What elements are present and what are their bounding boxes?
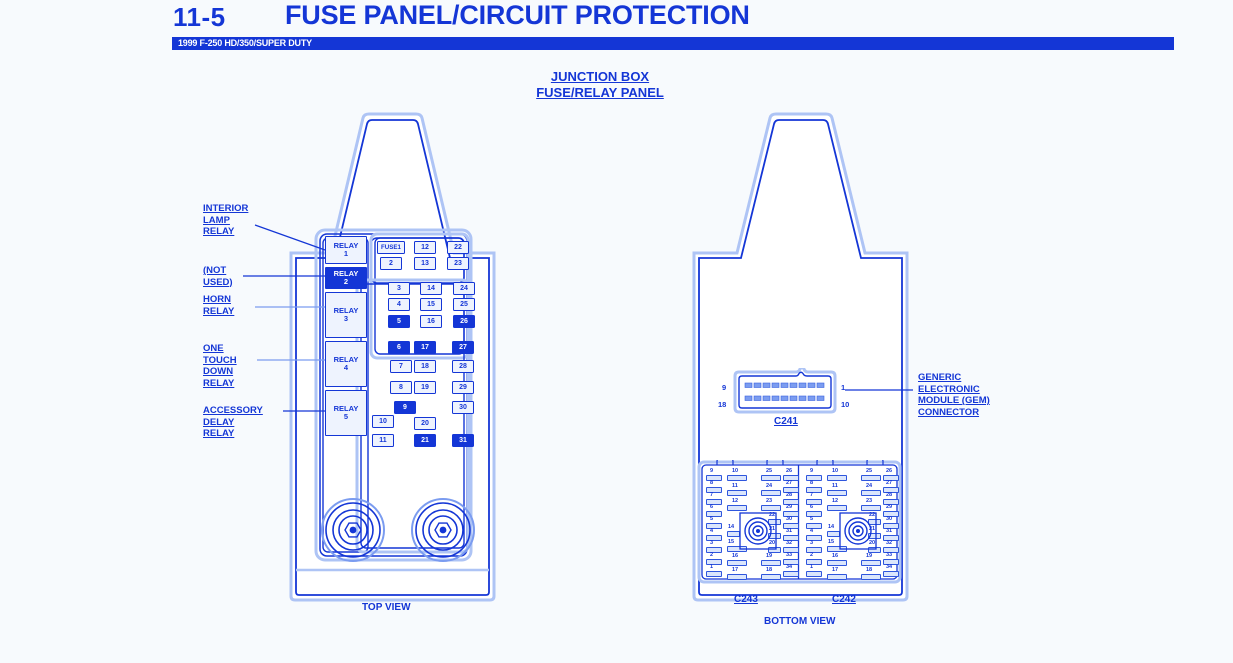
fuse-17[interactable]: 17 xyxy=(414,341,436,354)
c242-pin-7-label: 7 xyxy=(810,492,813,498)
subtitle-bar: 1999 F-250 HD/350/SUPER DUTY xyxy=(172,37,1174,50)
c243-pin-27-label: 27 xyxy=(786,480,792,486)
callout-leader-lines xyxy=(195,195,365,455)
c243-pin-5[interactable] xyxy=(706,523,722,529)
fuse-25[interactable]: 25 xyxy=(453,298,475,311)
c242-pin-4-label: 4 xyxy=(810,528,813,534)
c243-pin-23-label: 23 xyxy=(766,498,772,504)
c243-pin-19[interactable] xyxy=(761,560,781,566)
c242-pin-17[interactable] xyxy=(827,574,847,580)
c243-pin-4[interactable] xyxy=(706,535,722,541)
fuse-30[interactable]: 30 xyxy=(452,401,474,414)
c242-pin-5-label: 5 xyxy=(810,516,813,522)
c242-pin-23[interactable] xyxy=(861,505,881,511)
fuse-9[interactable]: 9 xyxy=(394,401,416,414)
c243-pin-3[interactable] xyxy=(706,547,722,553)
c241-connector[interactable] xyxy=(730,368,840,416)
fuse-12[interactable]: 12 xyxy=(414,241,436,254)
chapter-number: 11-5 xyxy=(173,2,226,33)
fuse-13[interactable]: 13 xyxy=(414,257,436,270)
circular-connector-right xyxy=(412,499,474,561)
fuse-16[interactable]: 16 xyxy=(420,315,442,328)
c243-pin-8-label: 8 xyxy=(710,480,713,486)
c242-pin-19-label: 19 xyxy=(866,553,872,559)
c242-pin-9-label: 9 xyxy=(810,468,813,474)
fuse-29[interactable]: 29 xyxy=(452,381,474,394)
c242-pin-11[interactable] xyxy=(827,490,847,496)
fuse-20[interactable]: 20 xyxy=(414,417,436,430)
circular-connector-pair xyxy=(318,495,488,565)
c242-pin-3-label: 3 xyxy=(810,540,813,546)
c241-pin-row-top xyxy=(745,383,824,388)
page-title: FUSE PANEL/CIRCUIT PROTECTION xyxy=(285,0,750,31)
c242-pin-34[interactable] xyxy=(883,571,899,577)
c242-center-boss xyxy=(839,512,877,550)
c243-pin-25[interactable] xyxy=(761,475,781,481)
c242-pin-4[interactable] xyxy=(806,535,822,541)
c242-pin-27-label: 27 xyxy=(886,480,892,486)
c243-pin-14-label: 14 xyxy=(728,524,734,530)
c242-pin-14-label: 14 xyxy=(828,524,834,530)
c242-pin-5[interactable] xyxy=(806,523,822,529)
bottom-view-caption: BOTTOM VIEW xyxy=(764,616,835,627)
c242-pin-25-label: 25 xyxy=(866,468,872,474)
c242-pin-8[interactable] xyxy=(806,487,822,493)
c242-pin-8-label: 8 xyxy=(810,480,813,486)
c242-pin-15-label: 15 xyxy=(828,539,834,545)
c242-pin-1-label: 1 xyxy=(810,564,813,570)
callout-gem-line4: CONNECTOR xyxy=(918,407,990,419)
callout-gem-line2: ELECTRONIC xyxy=(918,384,990,396)
fuse-8[interactable]: 8 xyxy=(390,381,412,394)
c243-pin-6[interactable] xyxy=(706,511,722,517)
fuse-15[interactable]: 15 xyxy=(420,298,442,311)
c243-pin-5-label: 5 xyxy=(710,516,713,522)
fuse-FUSE1[interactable]: FUSE1 xyxy=(377,241,405,254)
fuse-18[interactable]: 18 xyxy=(414,360,436,373)
c243-pin-24[interactable] xyxy=(761,490,781,496)
fuse-3[interactable]: 3 xyxy=(388,282,410,295)
c242-pin-12-label: 12 xyxy=(832,498,838,504)
c243-pin-17-label: 17 xyxy=(732,567,738,573)
c242-pin-12[interactable] xyxy=(827,505,847,511)
c243-pin-26-label: 26 xyxy=(786,468,792,474)
fuse-11[interactable]: 11 xyxy=(372,434,394,447)
c243-pin-31-label: 31 xyxy=(786,528,792,534)
c242-pin-1[interactable] xyxy=(806,571,822,577)
c243-pin-11-label: 11 xyxy=(732,483,738,489)
c242-pin-6[interactable] xyxy=(806,511,822,517)
c243-pin-18-label: 18 xyxy=(766,567,772,573)
c243-pin-19-label: 19 xyxy=(766,553,772,559)
c243-pin-23[interactable] xyxy=(761,505,781,511)
c242-pin-18-label: 18 xyxy=(866,567,872,573)
c242-pin-23-label: 23 xyxy=(866,498,872,504)
c243-pin-2[interactable] xyxy=(706,559,722,565)
gem-leader-line xyxy=(845,385,915,395)
c242-pin-24-label: 24 xyxy=(866,483,872,489)
c242-label: C242 xyxy=(832,594,856,605)
c241-pin-label-bottom-right: 10 xyxy=(841,400,849,409)
fuse-24[interactable]: 24 xyxy=(453,282,475,295)
c243-pin-25-label: 25 xyxy=(766,468,772,474)
fuse-19[interactable]: 19 xyxy=(414,381,436,394)
c243-pin-15-label: 15 xyxy=(728,539,734,545)
callout-gem-line3: MODULE (GEM) xyxy=(918,395,990,407)
fuse-22[interactable]: 22 xyxy=(447,241,469,254)
c242-pin-7[interactable] xyxy=(806,499,822,505)
c243-pin-7-label: 7 xyxy=(710,492,713,498)
c243-pin-7[interactable] xyxy=(706,499,722,505)
fuse-27[interactable]: 27 xyxy=(452,341,474,354)
fuse-2[interactable]: 2 xyxy=(380,257,402,270)
c243-pin-32-label: 32 xyxy=(786,540,792,546)
c242-pin-17-label: 17 xyxy=(832,567,838,573)
c242-pin-28-label: 28 xyxy=(886,492,892,498)
c242-pin-33-label: 33 xyxy=(886,552,892,558)
c243-pin-34[interactable] xyxy=(783,571,799,577)
circular-connector-left xyxy=(322,499,384,561)
c243-pin-4-label: 4 xyxy=(710,528,713,534)
c243-pin-12[interactable] xyxy=(727,505,747,511)
c243-pin-17[interactable] xyxy=(727,574,747,580)
c243-pin-3-label: 3 xyxy=(710,540,713,546)
fuse-6[interactable]: 6 xyxy=(388,341,410,354)
page-header: 11-5 FUSE PANEL/CIRCUIT PROTECTION 1999 … xyxy=(0,0,1233,56)
c243-pin-11[interactable] xyxy=(727,490,747,496)
c243-pin-10[interactable] xyxy=(727,475,747,481)
c242-pin-19[interactable] xyxy=(861,560,881,566)
c242-pin-24[interactable] xyxy=(861,490,881,496)
c242-pin-18[interactable] xyxy=(861,574,881,580)
c243-pin-18[interactable] xyxy=(761,574,781,580)
c243-pin-1-label: 1 xyxy=(710,564,713,570)
c242-pin-9[interactable] xyxy=(806,475,822,481)
c242-pin-16[interactable] xyxy=(827,560,847,566)
c242-pin-29-label: 29 xyxy=(886,504,892,510)
c243-pin-33-label: 33 xyxy=(786,552,792,558)
c243-pin-2-label: 2 xyxy=(710,552,713,558)
vehicle-model-subtitle: 1999 F-250 HD/350/SUPER DUTY xyxy=(178,38,312,49)
c243-pin-9-label: 9 xyxy=(710,468,713,474)
c243-pin-29-label: 29 xyxy=(786,504,792,510)
c243-pin-10-label: 10 xyxy=(732,468,738,474)
c242-pin-26-label: 26 xyxy=(886,468,892,474)
c241-pin-label-bottom-left: 18 xyxy=(718,400,726,409)
fuse-5[interactable]: 5 xyxy=(388,315,410,328)
diagram-page: 11-5 FUSE PANEL/CIRCUIT PROTECTION 1999 … xyxy=(0,0,1233,663)
c241-label: C241 xyxy=(774,416,798,427)
c243-pin-30-label: 30 xyxy=(786,516,792,522)
fuse-4[interactable]: 4 xyxy=(388,298,410,311)
c242-pin-11-label: 11 xyxy=(832,483,838,489)
c241-pin-row-bottom xyxy=(745,396,824,401)
c243-label: C243 xyxy=(734,594,758,605)
c242-pin-10-label: 10 xyxy=(832,468,838,474)
c242-pin-10[interactable] xyxy=(827,475,847,481)
fuse-31[interactable]: 31 xyxy=(452,434,474,447)
callout-gem-line1: GENERIC xyxy=(918,372,990,384)
c242-pin-3[interactable] xyxy=(806,547,822,553)
c241-pin-label-top-left: 9 xyxy=(722,383,726,392)
c243-pin-28-label: 28 xyxy=(786,492,792,498)
c243-pin-16[interactable] xyxy=(727,560,747,566)
fuse-14[interactable]: 14 xyxy=(420,282,442,295)
c242-pin-34-label: 34 xyxy=(886,564,892,570)
fuse-10[interactable]: 10 xyxy=(372,415,394,428)
fuse-7[interactable]: 7 xyxy=(390,360,412,373)
c242-pin-16-label: 16 xyxy=(832,553,838,559)
figure-title: JUNCTION BOX FUSE/RELAY PANEL xyxy=(499,69,701,101)
fuse-26[interactable]: 26 xyxy=(453,315,475,328)
figure-title-line1: JUNCTION BOX xyxy=(499,69,701,85)
c242-pin-2[interactable] xyxy=(806,559,822,565)
fuse-23[interactable]: 23 xyxy=(447,257,469,270)
c243-pin-1[interactable] xyxy=(706,571,722,577)
c242-pin-32-label: 32 xyxy=(886,540,892,546)
c243-pin-9[interactable] xyxy=(706,475,722,481)
c243-pin-34-label: 34 xyxy=(786,564,792,570)
c242-pin-2-label: 2 xyxy=(810,552,813,558)
fuse-28[interactable]: 28 xyxy=(452,360,474,373)
leader-interior-lamp xyxy=(255,225,325,250)
callout-gem-connector: GENERIC ELECTRONIC MODULE (GEM) CONNECTO… xyxy=(918,372,990,418)
fuse-21[interactable]: 21 xyxy=(414,434,436,447)
c242-pin-25[interactable] xyxy=(861,475,881,481)
top-view-caption: TOP VIEW xyxy=(362,602,411,613)
figure-title-line2: FUSE/RELAY PANEL xyxy=(499,85,701,101)
c243-pin-12-label: 12 xyxy=(732,498,738,504)
c243-pin-8[interactable] xyxy=(706,487,722,493)
c243-pin-16-label: 16 xyxy=(732,553,738,559)
c242-pin-6-label: 6 xyxy=(810,504,813,510)
c243-pin-24-label: 24 xyxy=(766,483,772,489)
c242-pin-30-label: 30 xyxy=(886,516,892,522)
c242-pin-31-label: 31 xyxy=(886,528,892,534)
c243-pin-6-label: 6 xyxy=(710,504,713,510)
c243-center-boss xyxy=(739,512,777,550)
